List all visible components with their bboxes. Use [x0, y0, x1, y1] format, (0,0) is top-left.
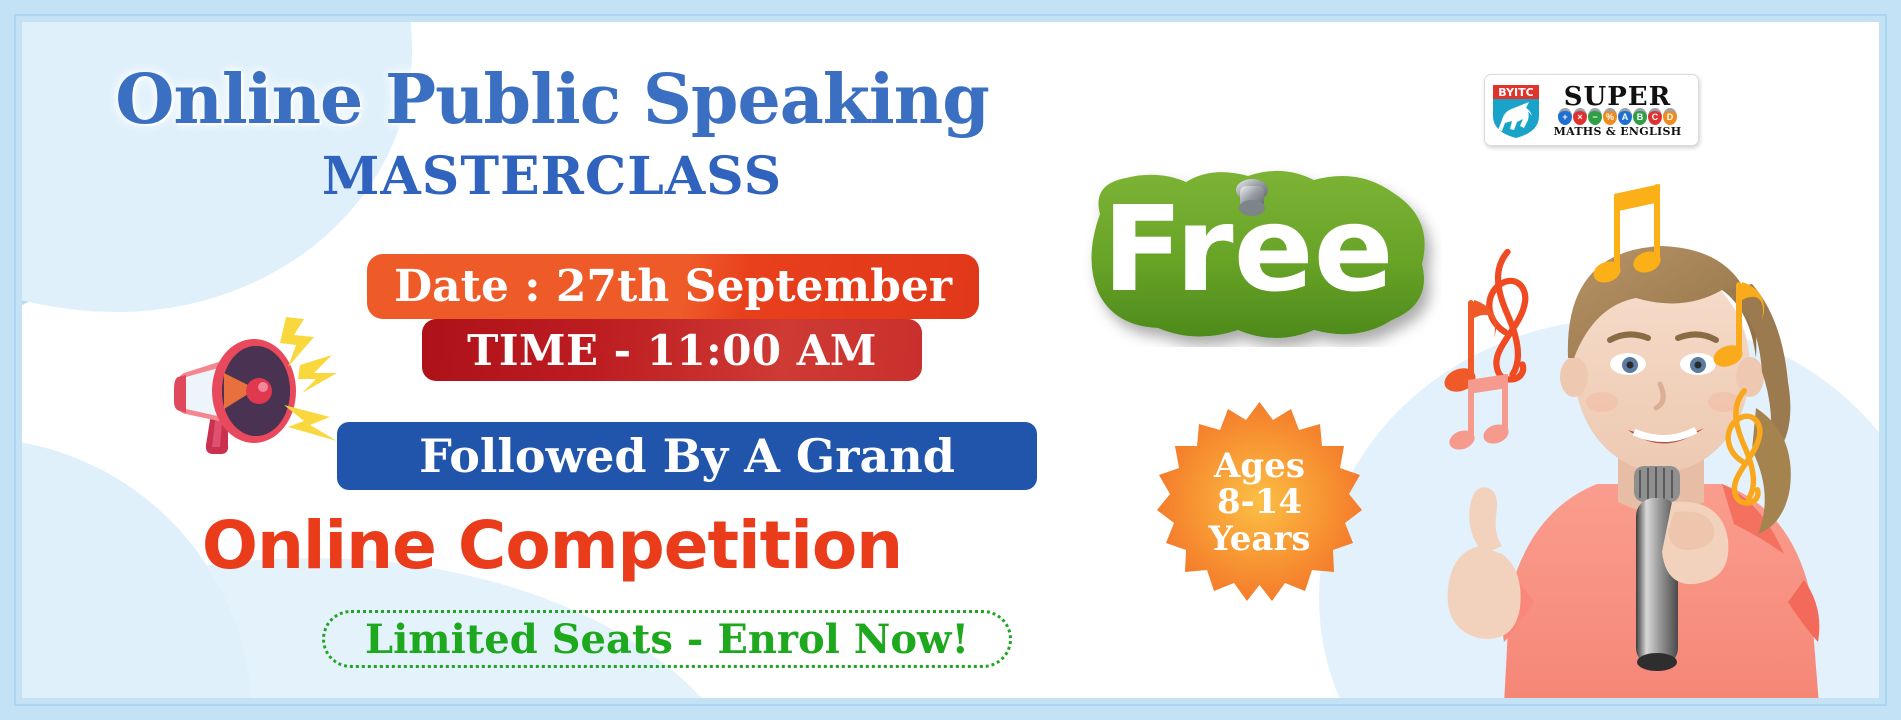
logo-symbol-plus: +: [1558, 108, 1572, 125]
logo-shield-text: BYITC: [1498, 86, 1533, 99]
logo-symbol-a: A: [1618, 108, 1632, 125]
followed-by-ribbon: Followed By A Grand: [337, 422, 1037, 490]
music-notes-icon: [1402, 182, 1879, 602]
time-ribbon: TIME - 11:00 AM: [422, 319, 922, 381]
ages-badge: Ages 8-14 Years: [1157, 400, 1362, 605]
megaphone-icon: [162, 277, 337, 457]
logo-symbol-percent: %: [1603, 108, 1617, 125]
beamed-note: [1590, 184, 1663, 286]
page-subtitle: MASTERCLASS: [22, 146, 1082, 207]
enrol-now-cta[interactable]: Limited Seats - Enrol Now!: [322, 610, 1012, 668]
date-ribbon: Date : 27th September: [367, 254, 979, 319]
eighth-note: [1710, 282, 1764, 371]
competition-headline: Online Competition: [22, 507, 1082, 584]
enrol-now-label: Limited Seats - Enrol Now!: [365, 616, 969, 663]
banner-stage: Online Public Speaking MASTERCLASS Date …: [22, 22, 1879, 698]
brand-logo[interactable]: BYITC SUPER + × − % A B C D: [1484, 74, 1699, 146]
promotional-banner: Online Public Speaking MASTERCLASS Date …: [0, 0, 1901, 720]
logo-symbol-minus: −: [1588, 108, 1602, 125]
ages-line-1: Ages: [1214, 448, 1305, 484]
logo-symbol-c: C: [1648, 108, 1662, 125]
logo-symbol-d: D: [1663, 108, 1677, 125]
ages-line-3: Years: [1208, 521, 1310, 557]
logo-symbol-b: B: [1633, 108, 1647, 125]
ages-line-2: 8-14: [1217, 484, 1302, 520]
page-title: Online Public Speaking: [22, 60, 1082, 140]
logo-symbol-times: ×: [1573, 108, 1587, 125]
free-badge: Free: [1062, 162, 1442, 347]
logo-tagline: MATHS & ENGLISH: [1554, 126, 1682, 137]
logo-brand-name: SUPER: [1564, 84, 1671, 110]
pushpin-icon: [1236, 179, 1268, 216]
unicorn-icon: BYITC: [1490, 80, 1542, 140]
logo-symbol-row: + × − % A B C D: [1558, 111, 1677, 125]
